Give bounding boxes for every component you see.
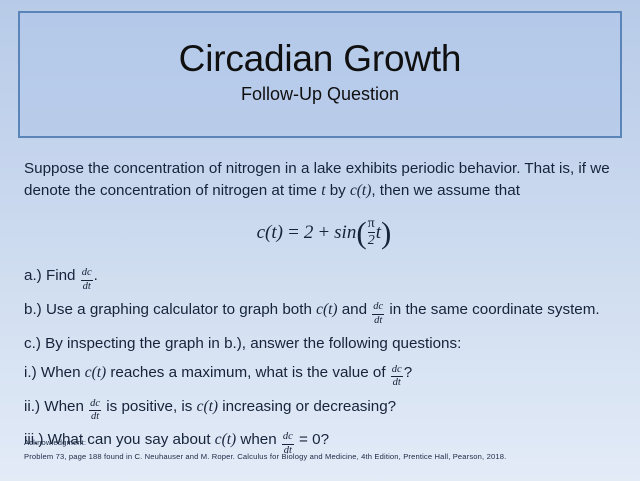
question-b-label: b.) [24, 301, 42, 318]
display-equation-row: c(t)=2+sin(π2t) [24, 217, 624, 257]
acknowledgment-reference: Problem 73, page 188 found in C. Neuhaus… [24, 451, 624, 462]
question-b-text-before: Use a graphing calculator to graph both [42, 301, 316, 318]
acknowledgment-heading: Acknowledgment: [24, 437, 624, 448]
equation-plus: + [317, 222, 330, 244]
question-ii-func: c(t) [197, 398, 218, 415]
question-b-fraction: dcdt [372, 302, 384, 326]
question-ii-fraction-numerator: dc [89, 399, 101, 411]
question-item-i: i.) When c(t) reaches a maximum, what is… [24, 363, 624, 388]
question-i-func: c(t) [85, 364, 106, 381]
question-a-fraction: dcdt [81, 268, 93, 292]
question-i-text-before: When [37, 364, 85, 381]
question-ii-fraction: dcdt [89, 399, 101, 423]
question-item-a: a.) Find dcdt. [24, 266, 624, 291]
question-a-fraction-numerator: dc [81, 268, 93, 280]
question-ii-text-mid: is positive, is [102, 398, 197, 415]
equation-fraction-denominator: 2 [368, 232, 375, 248]
question-c-label: c.) [24, 335, 41, 352]
question-b-fraction-numerator: dc [372, 302, 384, 314]
acknowledgment-block: Acknowledgment: Problem 73, page 188 fou… [24, 437, 624, 463]
intro-text-2: by [325, 182, 349, 199]
question-item-ii: ii.) When dcdt is positive, is c(t) incr… [24, 397, 624, 422]
question-a-text-after: . [94, 267, 98, 284]
question-a-text-before: Find [42, 267, 80, 284]
equation-lhs: c(t) [257, 222, 283, 244]
question-i-fraction-denominator: dt [391, 376, 403, 389]
question-b-text-after: in the same coordinate system. [385, 301, 599, 318]
page-title: Circadian Growth [179, 40, 462, 78]
question-item-b: b.) Use a graphing calculator to graph b… [24, 300, 624, 325]
question-b-fraction-denominator: dt [372, 314, 384, 327]
question-ii-fraction-denominator: dt [89, 410, 101, 423]
intro-text-1: Suppose the concentration of nitrogen in… [24, 160, 610, 199]
page-subtitle: Follow-Up Question [241, 84, 399, 105]
equation-equals: = [287, 222, 300, 244]
equation-sin: sin [334, 222, 356, 244]
question-b-func: c(t) [316, 301, 337, 318]
question-i-text-after: ? [404, 364, 412, 381]
question-ii-text-after: increasing or decreasing? [218, 398, 396, 415]
equation-fraction: π2 [368, 217, 375, 248]
intro-func-ct: c(t) [350, 182, 371, 199]
title-box: Circadian Growth Follow-Up Question [18, 11, 622, 138]
body-content: Suppose the concentration of nitrogen in… [24, 158, 624, 455]
question-i-text-mid: reaches a maximum, what is the value of [106, 364, 390, 381]
question-i-fraction-numerator: dc [391, 365, 403, 377]
question-a-label: a.) [24, 267, 42, 284]
equation-close-paren: ) [381, 221, 391, 246]
question-ii-text-before: When [40, 398, 88, 415]
question-i-fraction: dcdt [391, 365, 403, 389]
slide-canvas: Circadian Growth Follow-Up Question Supp… [0, 0, 640, 481]
question-item-c: c.) By inspecting the graph in b.), answ… [24, 334, 624, 354]
question-b-text-mid: and [338, 301, 372, 318]
equation-constant: 2 [304, 222, 314, 244]
question-c-text-before: By inspecting the graph in b.), answer t… [41, 335, 461, 352]
question-ii-label: ii.) [24, 398, 40, 415]
equation-open-paren: ( [356, 221, 366, 246]
equation-fraction-numerator: π [368, 217, 375, 232]
display-equation: c(t)=2+sin(π2t) [257, 217, 392, 248]
question-a-fraction-denominator: dt [81, 280, 93, 293]
intro-paragraph: Suppose the concentration of nitrogen in… [24, 158, 624, 201]
question-i-label: i.) [24, 364, 37, 381]
intro-text-3: , then we assume that [371, 182, 520, 199]
